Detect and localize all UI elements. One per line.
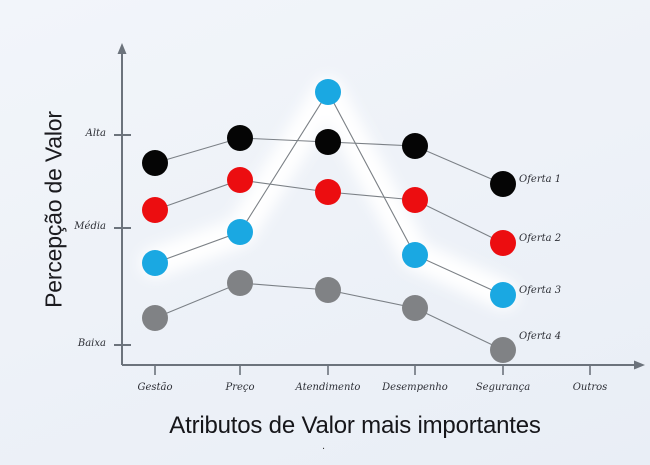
point-oferta-3-seguranca[interactable] <box>490 282 516 308</box>
x-axis-title: Atributos de Valor mais importantes <box>105 412 605 440</box>
footer-dot: . <box>322 440 325 452</box>
x-tick-label-seguranca: Segurança <box>458 382 548 393</box>
point-oferta-1-seguranca[interactable] <box>490 171 516 197</box>
legend-label-oferta-4: Oferta 4 <box>519 331 561 342</box>
legend-label-oferta-3[interactable]: Oferta 3 <box>519 285 561 296</box>
point-oferta-4-seguranca[interactable] <box>490 337 516 363</box>
y-tick-label-alta: Alta <box>44 128 106 139</box>
x-tick-label-desempenho: Desempenho <box>370 382 460 393</box>
legend-label-oferta-2[interactable]: Oferta 2 <box>519 233 561 244</box>
y-axis <box>114 43 131 365</box>
legend-label-oferta-1[interactable]: Oferta 1 <box>519 174 561 185</box>
x-tick-label-outros: Outros <box>545 382 635 393</box>
y-tick-label-media: Média <box>44 221 106 232</box>
x-tick-label-gestao: Gestão <box>110 382 200 393</box>
point-oferta-2-seguranca[interactable] <box>490 230 516 256</box>
x-axis <box>122 361 645 376</box>
y-axis-title: Percepção de Valor <box>41 60 68 360</box>
x-tick-label-preco: Preço <box>195 382 285 393</box>
y-tick-label-baixa: Baixa <box>44 338 106 349</box>
x-tick-label-atendimento: Atendimento <box>283 382 373 393</box>
chart-canvas: Percepção de Valor Atributos de Valor ma… <box>0 0 650 465</box>
